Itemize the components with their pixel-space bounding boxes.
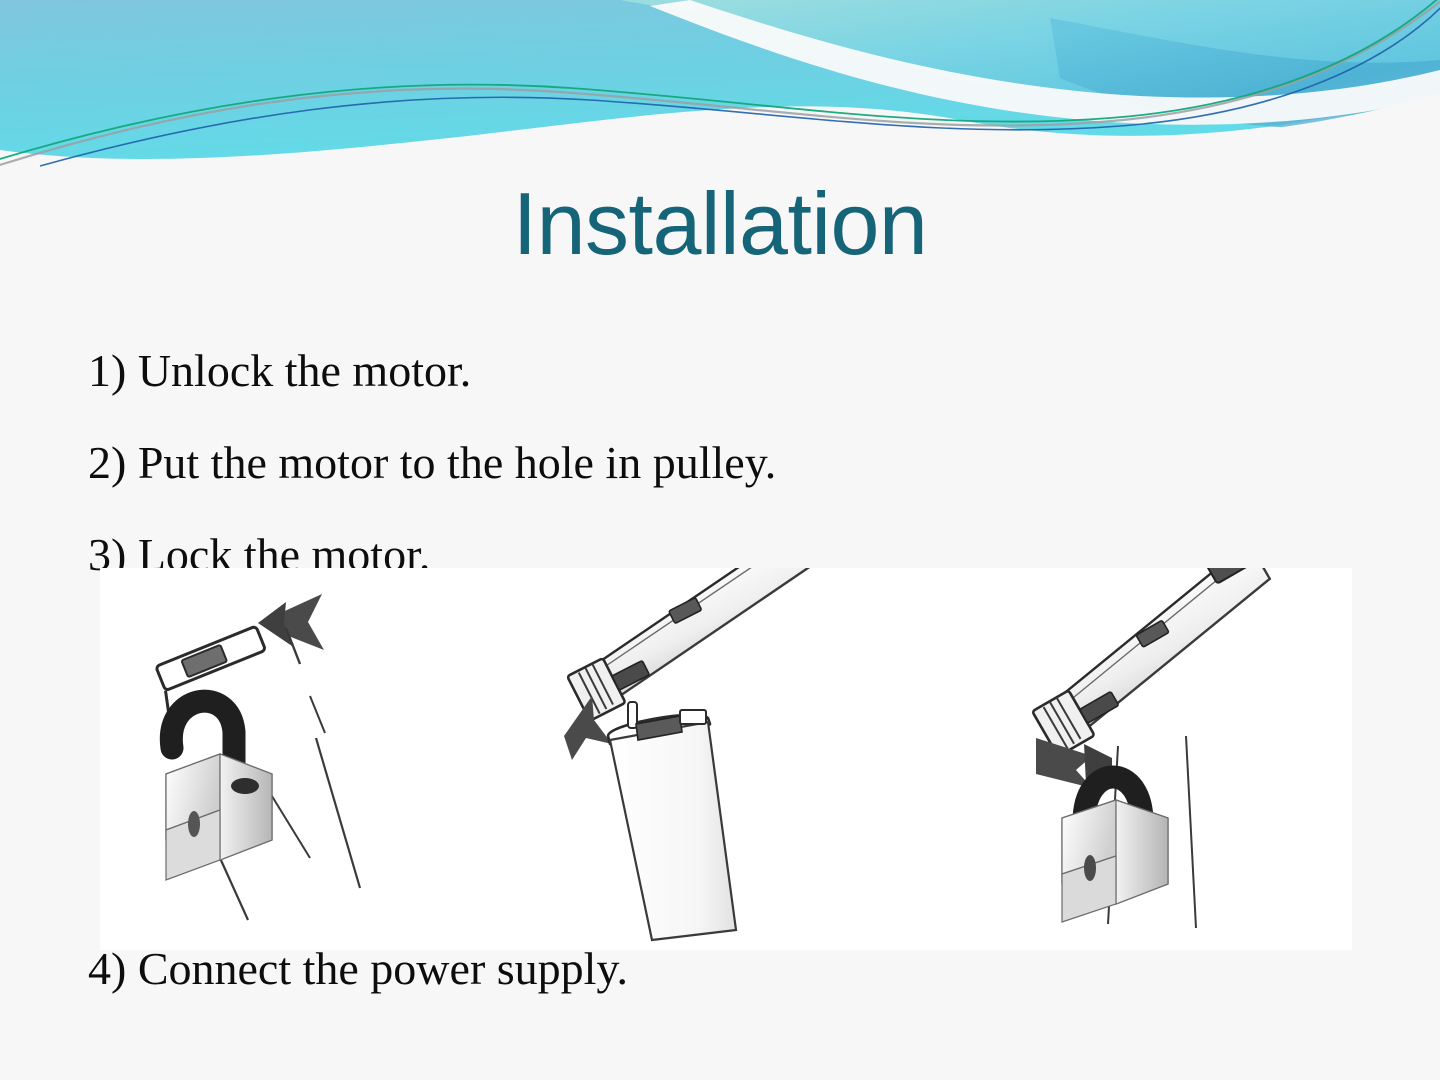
presentation-slide: Installation 1) Unlock the motor. 2) Put…	[0, 0, 1440, 1080]
diagram-panel-lock	[1000, 568, 1330, 950]
diagram-panel-insert	[540, 568, 870, 950]
slide-title: Installation	[0, 178, 1440, 270]
installation-diagram-image	[100, 568, 1352, 950]
diagram-panel-unlock	[110, 568, 440, 950]
step-line-1: 1) Unlock the motor.	[88, 346, 471, 397]
step-line-2: 2) Put the motor to the hole in pulley.	[88, 438, 776, 489]
header-wave-decoration	[0, 0, 1440, 175]
step-line-4: 4) Connect the power supply.	[88, 944, 628, 995]
